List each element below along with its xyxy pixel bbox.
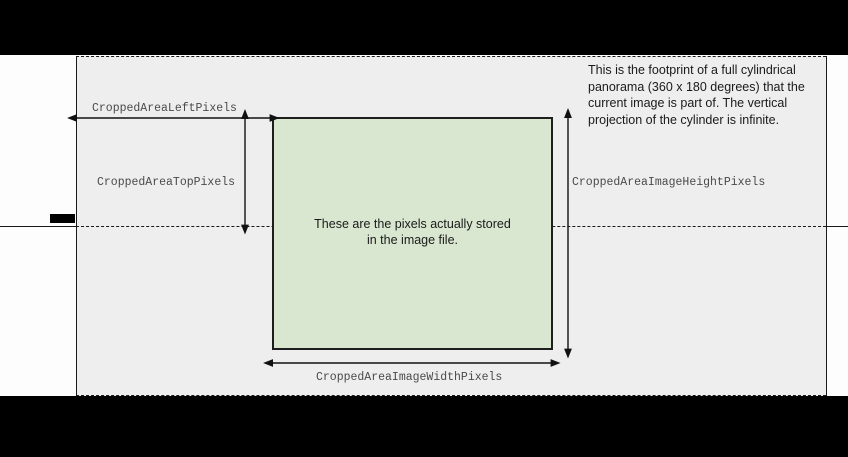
- cropped-image-caption: These are the pixels actually stored in …: [272, 216, 553, 248]
- label-cropped-area-top-pixels: CroppedAreaTopPixels: [97, 176, 235, 189]
- diagram-canvas: These are the pixels actually stored in …: [0, 0, 848, 457]
- label-cropped-area-image-height-pixels: CroppedAreaImageHeightPixels: [572, 176, 765, 189]
- cropped-image-caption-line-1: These are the pixels actually stored: [272, 216, 553, 232]
- left-margin-marker: [50, 214, 75, 223]
- panel-bottom-dashed-border: [76, 395, 826, 396]
- label-cropped-area-left-pixels: CroppedAreaLeftPixels: [92, 102, 237, 115]
- label-cropped-area-image-width-pixels: CroppedAreaImageWidthPixels: [316, 371, 502, 384]
- equator-solid-line-left: [0, 226, 76, 227]
- cropped-image-caption-line-2: in the image file.: [272, 232, 553, 248]
- equator-solid-line-right: [826, 226, 848, 227]
- panel-top-dashed-border: [76, 56, 826, 57]
- footprint-note-text: This is the footprint of a full cylindri…: [588, 62, 828, 128]
